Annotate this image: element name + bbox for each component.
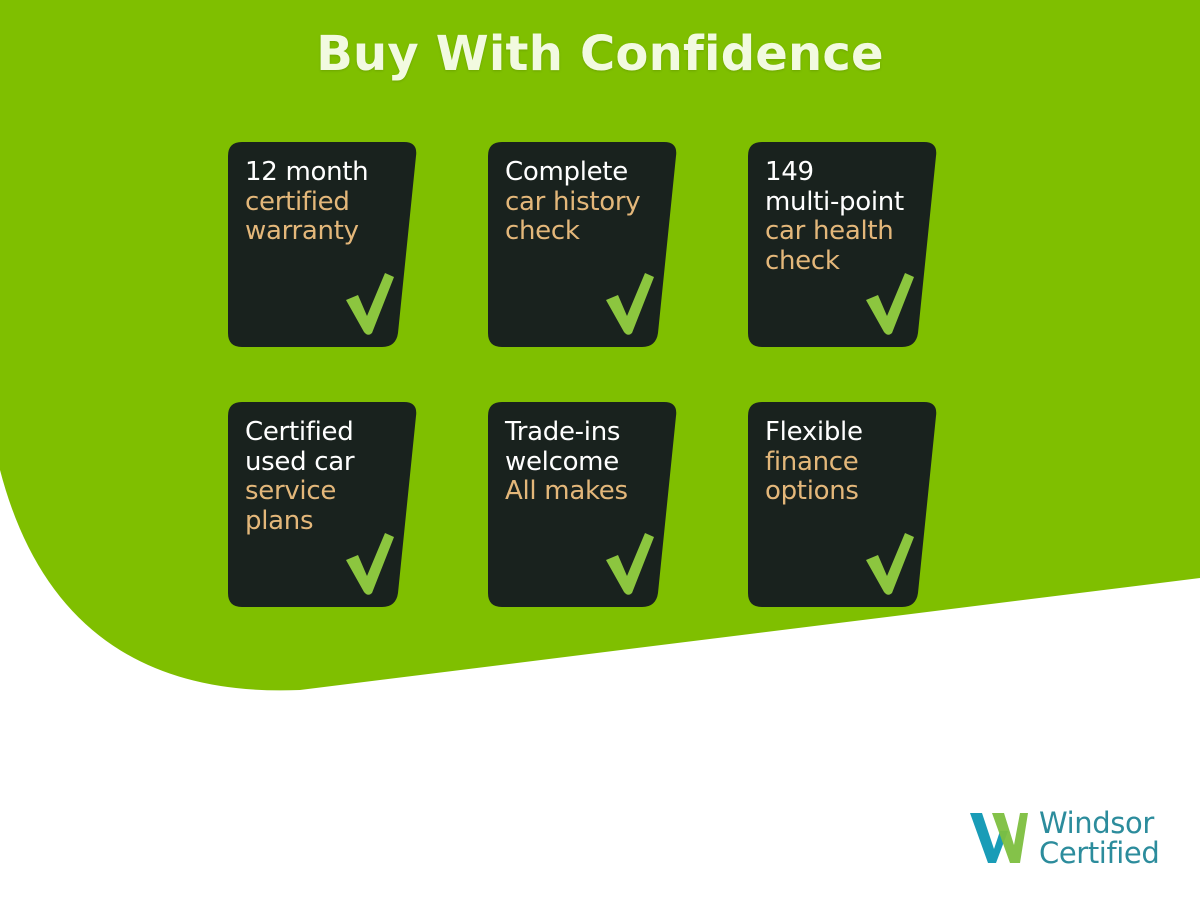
card-line-tan: car health [765,217,927,247]
card-line-tan: finance [765,448,927,478]
logo-wordmark: Windsor Certified [1039,808,1159,868]
card-finance-options[interactable]: Flexible finance options [748,402,938,607]
card-line-tan: warranty [245,217,407,247]
card-text: Trade-ins welcome All makes [505,418,667,507]
card-line-white: used car [245,448,407,478]
card-line-tan: car history [505,188,667,218]
card-text: Flexible finance options [765,418,927,507]
logo-line-1: Windsor [1039,808,1159,838]
card-line-white: Trade-ins [505,418,667,448]
card-certified-warranty[interactable]: 12 month certified warranty [228,142,418,347]
feature-card-row-2: Certified used car service plans [228,402,988,607]
check-icon [342,271,398,337]
card-car-history-check[interactable]: Complete car history check [488,142,678,347]
check-icon [862,531,918,597]
card-line-white: welcome [505,448,667,478]
feature-card-grid: 12 month certified warranty [228,142,988,662]
buy-with-confidence-graphic: Buy With Confidence 12 month certified w… [0,0,1200,900]
card-line-tan: check [505,217,667,247]
card-text: Complete car history check [505,158,667,247]
card-line-tan: All makes [505,477,667,507]
card-line-white: 149 [765,158,927,188]
logo-line-2: Certified [1039,838,1159,868]
card-line-white: 12 month [245,158,407,188]
card-line-white: Certified [245,418,407,448]
page-title: Buy With Confidence [0,26,1200,82]
card-trade-ins[interactable]: Trade-ins welcome All makes [488,402,678,607]
card-text: 149 multi-point car health check [765,158,927,277]
windsor-w-icon [968,809,1030,867]
check-icon [602,531,658,597]
card-text: Certified used car service plans [245,418,407,537]
card-line-white: Complete [505,158,667,188]
windsor-certified-logo[interactable]: Windsor Certified [968,808,1159,868]
card-line-white: multi-point [765,188,927,218]
card-text: 12 month certified warranty [245,158,407,247]
card-car-health-check[interactable]: 149 multi-point car health check [748,142,938,347]
feature-card-row-1: 12 month certified warranty [228,142,988,347]
check-icon [342,531,398,597]
check-icon [862,271,918,337]
check-icon [602,271,658,337]
card-line-tan: options [765,477,927,507]
card-service-plans[interactable]: Certified used car service plans [228,402,418,607]
card-line-tan: certified [245,188,407,218]
card-line-tan: service [245,477,407,507]
card-line-white: Flexible [765,418,927,448]
